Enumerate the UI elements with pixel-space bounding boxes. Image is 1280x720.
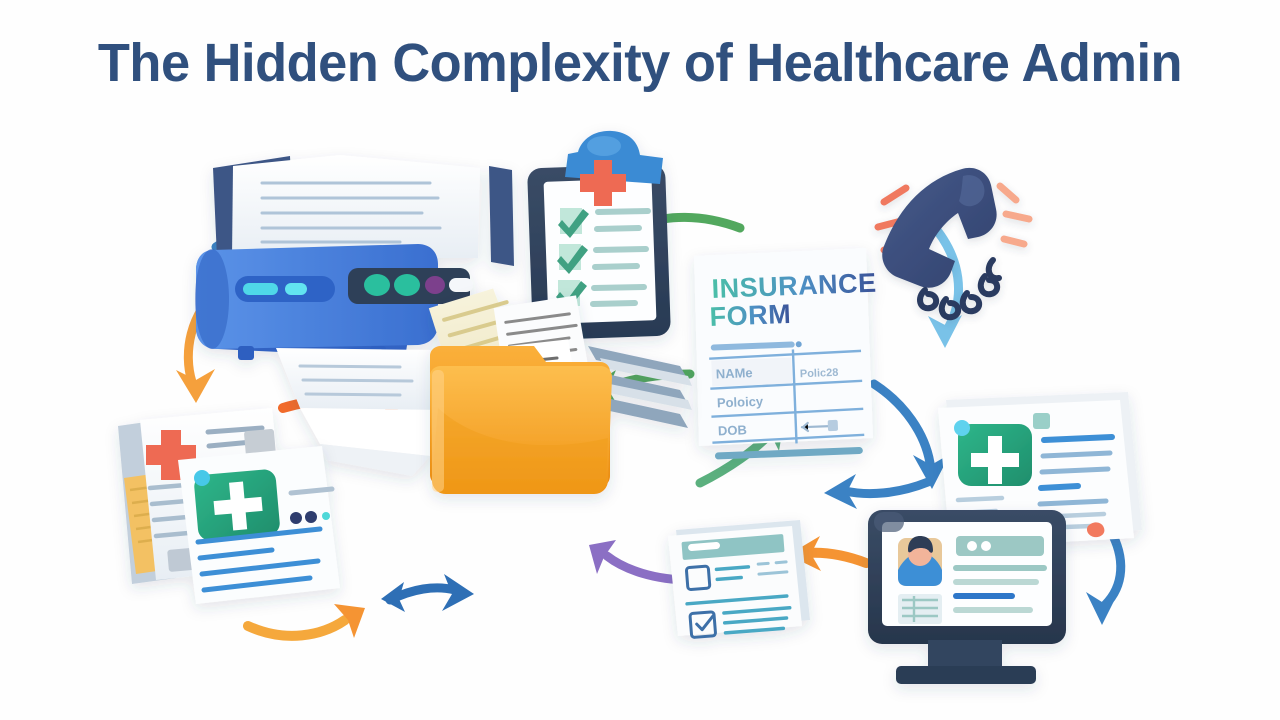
medical-records-front-cross-icon bbox=[193, 469, 280, 542]
insurance-form-illustration: INSURANCE FORM NAMe Poloicy DOB Polic28 bbox=[694, 248, 877, 460]
arrow-monitor-loop bbox=[1086, 530, 1121, 625]
medical-records-illustration bbox=[118, 408, 340, 604]
arrow-records-to-bottom bbox=[248, 604, 365, 638]
insurance-form-field-dob: DOB bbox=[718, 422, 747, 438]
insurance-form-field-name: NAMe bbox=[716, 365, 753, 381]
insurance-form-field-policy-right: Polic28 bbox=[800, 367, 839, 380]
telephone-illustration bbox=[878, 168, 1029, 317]
arrow-patient-doc-to-monitor bbox=[824, 474, 928, 509]
page-title: The Hidden Complexity of Healthcare Admi… bbox=[19, 32, 1261, 94]
insurance-form-heading-line2: FORM bbox=[709, 299, 792, 332]
checklist-form-illustration bbox=[668, 520, 810, 638]
monitor-illustration bbox=[868, 510, 1066, 684]
telephone-ring-lines-right bbox=[1000, 186, 1029, 244]
patient-document-cross-icon bbox=[954, 420, 1032, 486]
healthcare-admin-workflow-illustration: INSURANCE FORM NAMe Poloicy DOB Polic28 bbox=[0, 108, 1280, 720]
insurance-form-field-policy: Poloicy bbox=[717, 394, 765, 411]
insurance-form-heading-line1: INSURANCE bbox=[711, 268, 877, 304]
monitor-data-table bbox=[898, 594, 942, 624]
arrow-bottom-to-monitor bbox=[381, 574, 474, 612]
arrow-insurance-to-patient-doc bbox=[874, 384, 950, 489]
illustration-canvas: The Hidden Complexity of Healthcare Admi… bbox=[0, 0, 1280, 720]
monitor-avatar bbox=[898, 536, 942, 586]
